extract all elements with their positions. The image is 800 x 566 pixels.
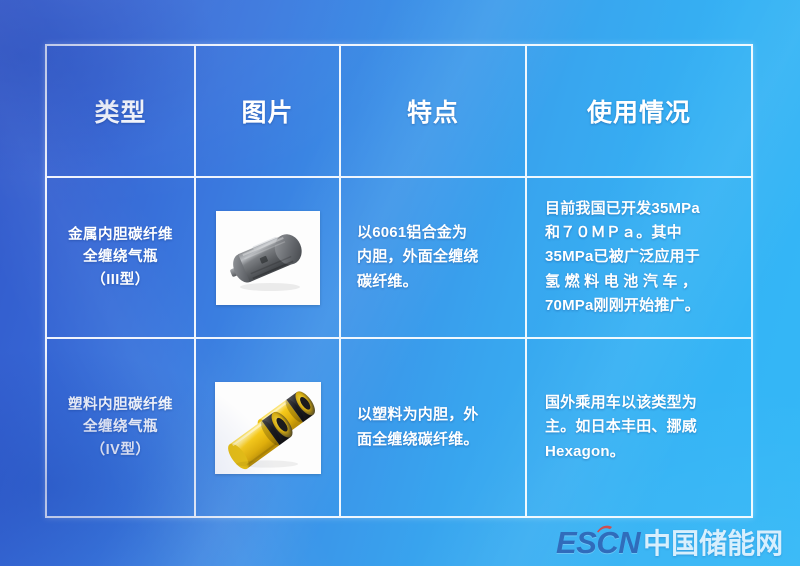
- usage-line: 70MPa刚刚开始推广。: [545, 294, 737, 318]
- feature-text-iv: 以塑料为内胆，外 面全缠绕碳纤维。: [341, 403, 525, 452]
- type-line: 全缠绕气瓶: [68, 416, 173, 438]
- type-line: 金属内胆碳纤维: [68, 224, 173, 246]
- type-line: 塑料内胆碳纤维: [68, 394, 173, 416]
- usage-line: 主。如日本丰田、挪威: [545, 415, 737, 439]
- cell-type-usage: 目前我国已开发35MPa 和７０ＭＰａ。其中 35MPa已被广泛应用于 氢 燃 …: [525, 178, 751, 337]
- header-label-type: 类型: [94, 93, 146, 129]
- header-label-feature: 特点: [407, 93, 459, 129]
- header-label-image: 图片: [241, 93, 293, 129]
- usage-line: 目前我国已开发35MPa: [545, 197, 737, 221]
- usage-line: 国外乘用车以该类型为: [545, 391, 737, 415]
- usage-text-iv: 国外乘用车以该类型为 主。如日本丰田、挪威 Hexagon。: [527, 391, 751, 464]
- feature-text-iii: 以6061铝合金为 内胆，外面全缠绕 碳纤维。: [341, 221, 525, 294]
- usage-text-iii: 目前我国已开发35MPa 和７０ＭＰａ。其中 35MPa已被广泛应用于 氢 燃 …: [527, 197, 751, 318]
- header-cell-feature: 特点: [339, 46, 525, 176]
- type-label-iv: 塑料内胆碳纤维 全缠绕气瓶 （IV型）: [62, 394, 179, 461]
- cell-type-name: 金属内胆碳纤维 全缠绕气瓶 （III型）: [47, 178, 194, 337]
- type-line: （IV型）: [68, 439, 173, 461]
- table-row: 金属内胆碳纤维 全缠绕气瓶 （III型）: [47, 176, 751, 337]
- slide-canvas: 类型 图片 特点 使用情况 金属内胆碳纤维 全缠绕气瓶 （III型）: [0, 0, 800, 566]
- type-line: （III型）: [68, 269, 173, 291]
- feature-line: 内胆，外面全缠绕: [357, 245, 511, 269]
- cell-type-feature: 以6061铝合金为 内胆，外面全缠绕 碳纤维。: [339, 178, 525, 337]
- cell-type-image: [194, 339, 339, 516]
- metal-cylinder-photo: [216, 211, 320, 305]
- type-line: 全缠绕气瓶: [68, 246, 173, 268]
- usage-line: 35MPa已被广泛应用于: [545, 245, 737, 269]
- type-label-iii: 金属内胆碳纤维 全缠绕气瓶 （III型）: [62, 224, 179, 291]
- header-cell-usage: 使用情况: [525, 46, 751, 176]
- comparison-table: 类型 图片 特点 使用情况 金属内胆碳纤维 全缠绕气瓶 （III型）: [45, 44, 753, 518]
- cell-type-usage: 国外乘用车以该类型为 主。如日本丰田、挪威 Hexagon。: [525, 339, 751, 516]
- header-label-usage: 使用情况: [587, 93, 691, 129]
- watermark-brand: ESCN: [556, 527, 640, 558]
- watermark-accent-icon: [596, 524, 613, 533]
- usage-line: 和７０ＭＰａ。其中: [545, 221, 737, 245]
- table-header-row: 类型 图片 特点 使用情况: [47, 46, 751, 176]
- watermark-site: 中国储能网: [643, 530, 783, 558]
- plastic-cylinder-photo: [215, 382, 321, 474]
- feature-line: 以6061铝合金为: [357, 221, 511, 245]
- feature-line: 碳纤维。: [357, 270, 511, 294]
- table-row: 塑料内胆碳纤维 全缠绕气瓶 （IV型）: [47, 337, 751, 516]
- usage-line: 氢 燃 料 电 池 汽 车 ，: [545, 270, 737, 294]
- cell-type-image: [194, 178, 339, 337]
- cell-type-name: 塑料内胆碳纤维 全缠绕气瓶 （IV型）: [47, 339, 194, 516]
- watermark: ESCN 中国储能网: [556, 527, 783, 558]
- cell-type-feature: 以塑料为内胆，外 面全缠绕碳纤维。: [339, 339, 525, 516]
- feature-line: 以塑料为内胆，外: [357, 403, 511, 427]
- feature-line: 面全缠绕碳纤维。: [357, 428, 511, 452]
- header-cell-image: 图片: [194, 46, 339, 176]
- header-cell-type: 类型: [47, 46, 194, 176]
- usage-line: Hexagon。: [545, 440, 737, 464]
